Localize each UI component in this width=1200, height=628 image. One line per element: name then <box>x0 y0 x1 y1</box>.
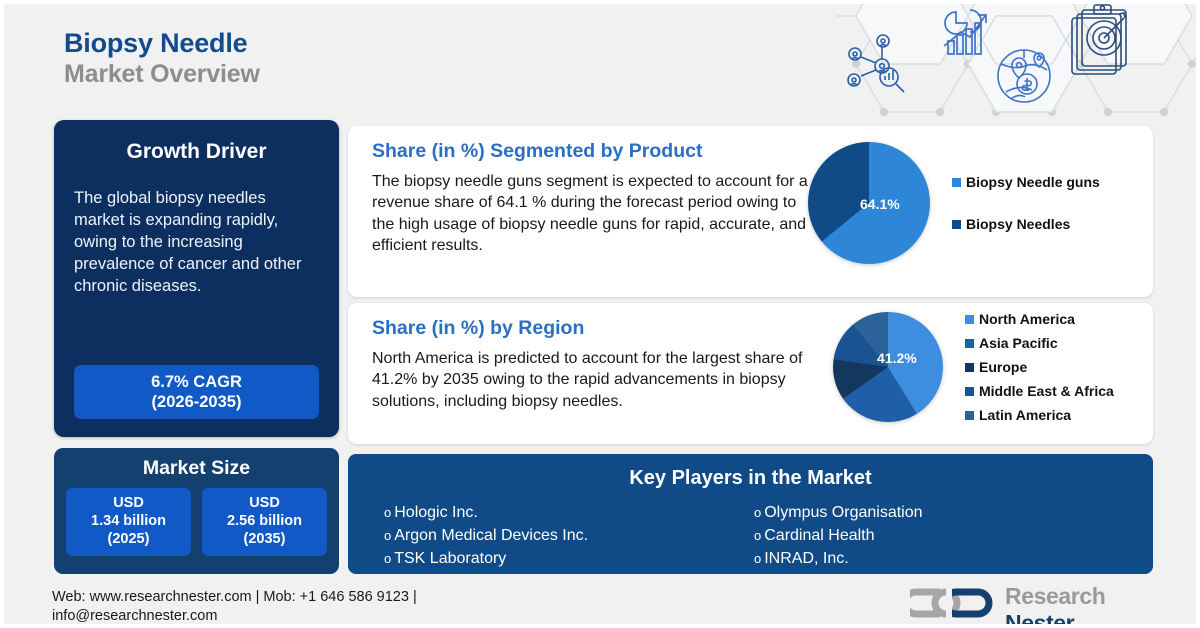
legend-label: Middle East & Africa <box>979 383 1114 399</box>
bullet-icon: o <box>754 550 761 569</box>
region-pie: 41.2% <box>833 312 943 422</box>
legend-label: Europe <box>979 359 1027 375</box>
key-player-name: INRAD, Inc. <box>764 547 848 570</box>
cagr-value: 6.7% CAGR <box>151 372 242 392</box>
product-pie-chart: 64.1% Biopsy Needle gunsBiopsy Needles <box>808 142 1100 264</box>
region-pie-data-label: 41.2% <box>877 350 917 366</box>
currency-label: USD <box>113 495 144 513</box>
key-players-column-left: oHologic Inc.oArgon Medical Devices Inc.… <box>384 501 754 571</box>
market-size-title: Market Size <box>54 457 339 480</box>
key-player-item: oHologic Inc. <box>384 501 754 524</box>
infographic-canvas: Biopsy Needle Market Overview Growth Dri… <box>0 0 1200 628</box>
market-size-values: USD 1.34 billion (2025) USD 2.56 billion… <box>66 488 327 556</box>
legend-item: Biopsy Needle guns <box>952 174 1100 190</box>
year-label: (2025) <box>108 531 150 549</box>
region-share-text: North America is predicted to account fo… <box>372 348 817 412</box>
hexagon-decoration <box>836 4 1196 122</box>
cagr-badge: 6.7% CAGR (2026-2035) <box>74 365 319 419</box>
key-players-column-right: oOlympus OrganisationoCardinal HealthoIN… <box>754 501 1124 571</box>
legend-swatch <box>965 339 974 348</box>
bullet-icon: o <box>754 504 761 523</box>
logo-research-text: Research <box>1005 583 1105 609</box>
bullet-icon: o <box>384 504 391 523</box>
key-player-name: Argon Medical Devices Inc. <box>394 524 588 547</box>
product-share-card: Share (in %) Segmented by Product The bi… <box>348 126 1153 297</box>
key-players-title: Key Players in the Market <box>348 467 1153 490</box>
bullet-icon: o <box>384 550 391 569</box>
page-header: Biopsy Needle Market Overview <box>64 28 260 89</box>
product-pie-legend: Biopsy Needle gunsBiopsy Needles <box>952 174 1100 232</box>
region-share-card: Share (in %) by Region North America is … <box>348 303 1153 444</box>
key-players-panel: Key Players in the Market oHologic Inc.o… <box>348 454 1153 574</box>
value-label: 1.34 billion <box>91 513 166 531</box>
product-pie: 64.1% <box>808 142 930 264</box>
legend-swatch <box>965 315 974 324</box>
key-player-name: Cardinal Health <box>764 524 874 547</box>
key-player-item: oOlympus Organisation <box>754 501 1124 524</box>
market-size-box-forecast-year: USD 2.56 billion (2035) <box>202 488 327 556</box>
market-size-panel: Market Size USD 1.34 billion (2025) USD … <box>54 448 339 574</box>
key-player-item: oTSK Laboratory <box>384 547 754 570</box>
year-label: (2035) <box>244 531 286 549</box>
key-players-columns: oHologic Inc.oArgon Medical Devices Inc.… <box>348 501 1153 571</box>
key-player-item: oINRAD, Inc. <box>754 547 1124 570</box>
legend-label: Biopsy Needles <box>966 216 1070 232</box>
legend-item: North America <box>965 311 1114 327</box>
footer-contact: Web: www.researchnester.com | Mob: +1 64… <box>52 588 417 626</box>
cagr-period: (2026-2035) <box>152 392 242 412</box>
legend-label: Asia Pacific <box>979 335 1058 351</box>
research-nester-logo: Research Nester Connect. Lead. Accomplis… <box>910 584 1150 626</box>
key-player-item: oCardinal Health <box>754 524 1124 547</box>
growth-driver-text: The global biopsy needles market is expa… <box>74 188 319 298</box>
growth-driver-panel: Growth Driver The global biopsy needles … <box>54 120 339 437</box>
key-player-name: Hologic Inc. <box>394 501 478 524</box>
legend-item: Asia Pacific <box>965 335 1114 351</box>
legend-label: North America <box>979 311 1075 327</box>
logo-wordmark: Research Nester Connect. Lead. Accomplis… <box>1005 583 1150 628</box>
region-pie-chart: 41.2% North AmericaAsia PacificEuropeMid… <box>833 311 1114 423</box>
bullet-icon: o <box>384 527 391 546</box>
market-size-box-base-year: USD 1.34 billion (2025) <box>66 488 191 556</box>
legend-swatch <box>952 220 961 229</box>
logo-name: Research Nester <box>1005 583 1150 628</box>
footer-contact-line2: info@researchnester.com <box>52 607 417 626</box>
key-player-item: oArgon Medical Devices Inc. <box>384 524 754 547</box>
legend-item: Latin America <box>965 407 1114 423</box>
bullet-icon: o <box>754 527 761 546</box>
footer-contact-line1: Web: www.researchnester.com | Mob: +1 64… <box>52 588 417 607</box>
page-subtitle: Market Overview <box>64 60 260 90</box>
page-title: Biopsy Needle <box>64 28 260 60</box>
legend-swatch <box>965 387 974 396</box>
key-player-name: TSK Laboratory <box>394 547 506 570</box>
logo-nester-text: Nester <box>1005 610 1074 628</box>
legend-label: Latin America <box>979 407 1071 423</box>
legend-item: Middle East & Africa <box>965 383 1114 399</box>
legend-swatch <box>952 178 961 187</box>
region-pie-legend: North AmericaAsia PacificEuropeMiddle Ea… <box>965 311 1114 423</box>
product-share-text: The biopsy needle guns segment is expect… <box>372 171 817 256</box>
legend-swatch <box>965 411 974 420</box>
value-label: 2.56 billion <box>227 513 302 531</box>
legend-item: Biopsy Needles <box>952 216 1100 232</box>
currency-label: USD <box>249 495 280 513</box>
legend-swatch <box>965 363 974 372</box>
legend-label: Biopsy Needle guns <box>966 174 1100 190</box>
product-pie-data-label: 64.1% <box>860 196 900 212</box>
key-player-name: Olympus Organisation <box>764 501 922 524</box>
chain-link-icon <box>910 586 996 620</box>
growth-driver-title: Growth Driver <box>54 140 339 164</box>
legend-item: Europe <box>965 359 1114 375</box>
